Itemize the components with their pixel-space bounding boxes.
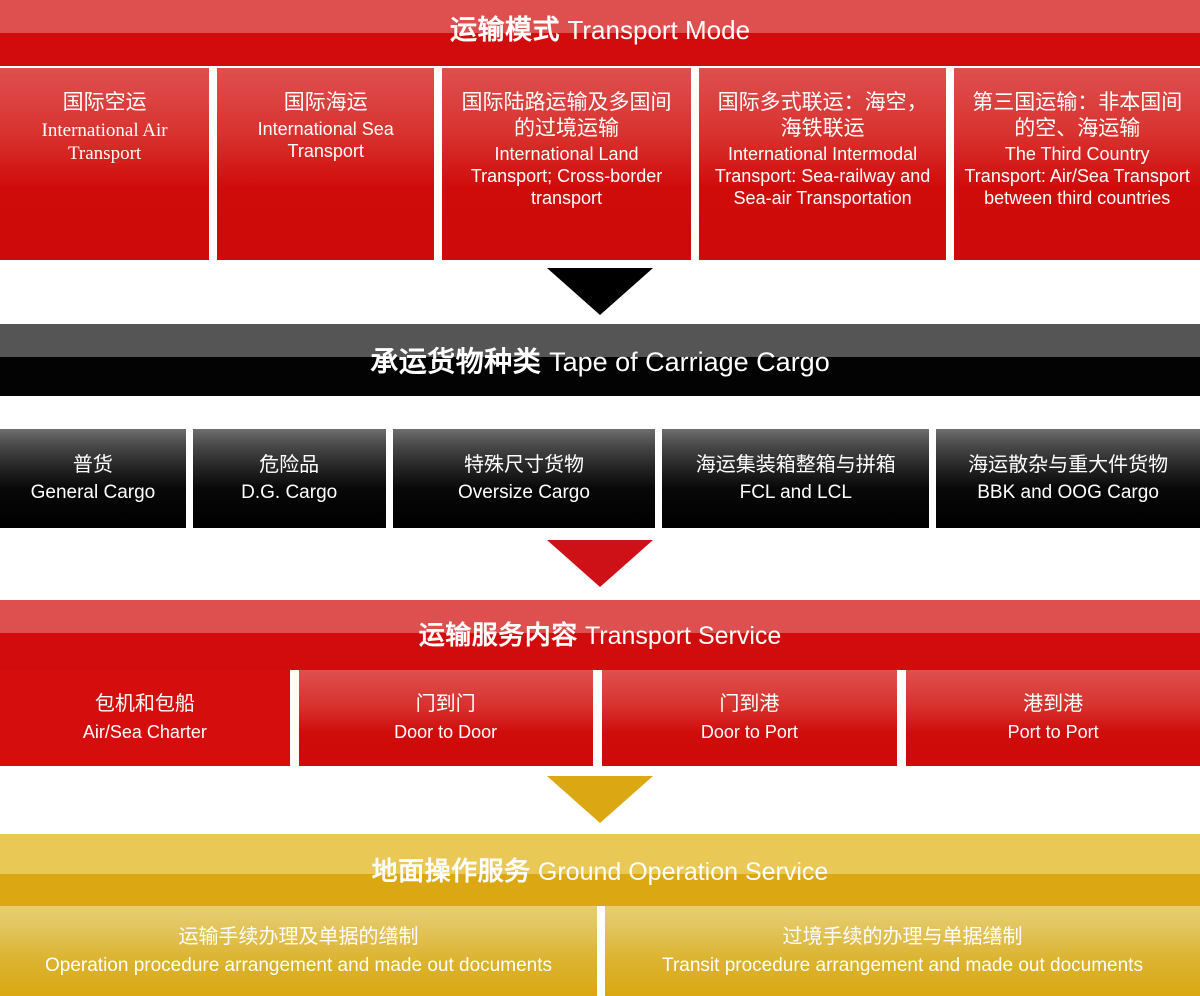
card-title-cn: 港到港 bbox=[1023, 692, 1083, 716]
arrow-service-to-ground-wrap bbox=[0, 766, 1200, 834]
cargo-card-dangerous-goods[interactable]: 危险品 D.G. Cargo bbox=[193, 429, 386, 529]
card-title-cn: 国际陆路运输及多国间的过境运输 bbox=[452, 90, 681, 141]
card-title-en: International Land Transport; Cross-bord… bbox=[452, 144, 681, 210]
ground-card-operation-procedure[interactable]: 运输手续办理及单据的缮制 Operation procedure arrange… bbox=[0, 906, 597, 996]
card-title-en: Air/Sea Charter bbox=[83, 722, 207, 744]
card-title-cn: 第三国运输：非本国间的空、海运输 bbox=[964, 90, 1190, 141]
card-title-cn: 国际海运 bbox=[284, 90, 368, 116]
card-title-en: Port to Port bbox=[1008, 722, 1099, 744]
arrow-down-icon bbox=[547, 268, 653, 315]
ground-operation-row: 运输手续办理及单据的缮制 Operation procedure arrange… bbox=[0, 906, 1200, 996]
service-card-air-sea-charter[interactable]: 包机和包船 Air/Sea Charter bbox=[0, 670, 290, 766]
section-title-en: Tape of Carriage Cargo bbox=[549, 347, 830, 377]
card-title-en: BBK and OOG Cargo bbox=[977, 481, 1159, 504]
section-title-en: Transport Service bbox=[585, 622, 781, 650]
section-header-carriage-cargo: 承运货物种类 Tape of Carriage Cargo bbox=[0, 324, 1200, 392]
card-title-cn: 包机和包船 bbox=[95, 692, 195, 716]
card-title-cn: 运输手续办理及单据的缮制 bbox=[179, 925, 419, 949]
card-title-cn: 过境手续的办理与单据缮制 bbox=[783, 925, 1023, 949]
card-title-en: Door to Door bbox=[394, 722, 497, 744]
section-header-ground-operation: 地面操作服务 Ground Operation Service bbox=[0, 834, 1200, 902]
section-title-transport-service: 运输服务内容 Transport Service bbox=[419, 618, 782, 649]
arrow-mode-to-cargo-wrap bbox=[0, 260, 1200, 324]
section-title-carriage-cargo: 承运货物种类 Tape of Carriage Cargo bbox=[370, 340, 829, 376]
card-title-en: Transit procedure arrangement and made o… bbox=[662, 954, 1143, 977]
card-title-cn: 门到门 bbox=[416, 692, 476, 716]
service-card-port-to-port[interactable]: 港到港 Port to Port bbox=[906, 670, 1200, 766]
card-title-cn: 国际多式联运：海空，海铁联运 bbox=[709, 90, 937, 141]
card-title-en: Oversize Cargo bbox=[458, 481, 590, 504]
cargo-card-fcl-lcl[interactable]: 海运集装箱整箱与拼箱 FCL and LCL bbox=[662, 429, 929, 529]
card-title-en: FCL and LCL bbox=[740, 481, 852, 504]
card-title-en: International Air Transport bbox=[10, 119, 199, 165]
card-title-en: D.G. Cargo bbox=[241, 481, 337, 504]
section-title-cn: 承运货物种类 bbox=[370, 346, 541, 377]
mode-card-intermodal[interactable]: 国际多式联运：海空，海铁联运 International Intermodal … bbox=[699, 68, 947, 260]
section-title-en: Ground Operation Service bbox=[538, 858, 828, 886]
card-title-en: International Sea Transport bbox=[227, 119, 424, 163]
mode-card-third-country[interactable]: 第三国运输：非本国间的空、海运输 The Third Country Trans… bbox=[954, 68, 1200, 260]
cargo-card-general[interactable]: 普货 General Cargo bbox=[0, 429, 186, 529]
transport-service-row: 包机和包船 Air/Sea Charter 门到门 Door to Door 门… bbox=[0, 670, 1200, 766]
service-card-door-to-port[interactable]: 门到港 Door to Port bbox=[602, 670, 898, 766]
arrow-cargo-to-service-wrap bbox=[0, 528, 1200, 600]
arrow-down-icon bbox=[547, 540, 653, 587]
card-title-en: General Cargo bbox=[31, 481, 156, 504]
card-title-cn: 海运集装箱整箱与拼箱 bbox=[696, 453, 896, 477]
transport-flow-diagram: 运输模式 Transport Mode 国际空运 International A… bbox=[0, 0, 1200, 996]
service-card-door-to-door[interactable]: 门到门 Door to Door bbox=[299, 670, 593, 766]
card-title-cn: 危险品 bbox=[259, 453, 319, 477]
card-title-en: International Intermodal Transport: Sea-… bbox=[709, 144, 937, 210]
card-title-en: Door to Port bbox=[701, 722, 798, 744]
card-title-en: Operation procedure arrangement and made… bbox=[45, 954, 552, 977]
card-title-cn: 普货 bbox=[73, 453, 113, 477]
section-title-cn: 运输模式 bbox=[450, 15, 560, 45]
mode-card-international-sea[interactable]: 国际海运 International Sea Transport bbox=[217, 68, 434, 260]
section-header-transport-mode: 运输模式 Transport Mode bbox=[0, 0, 1200, 62]
card-title-cn: 特殊尺寸货物 bbox=[464, 453, 584, 477]
section-title-transport-mode: 运输模式 Transport Mode bbox=[450, 17, 750, 46]
mode-card-international-air[interactable]: 国际空运 International Air Transport bbox=[0, 68, 209, 260]
arrow-down-icon bbox=[547, 776, 653, 823]
section-title-cn: 地面操作服务 bbox=[372, 856, 531, 886]
card-title-cn: 国际空运 bbox=[63, 90, 147, 116]
mode-card-international-land[interactable]: 国际陆路运输及多国间的过境运输 International Land Trans… bbox=[442, 68, 691, 260]
card-title-en: The Third Country Transport: Air/Sea Tra… bbox=[964, 144, 1190, 210]
card-title-cn: 门到港 bbox=[719, 692, 779, 716]
ground-card-transit-procedure[interactable]: 过境手续的办理与单据缮制 Transit procedure arrangeme… bbox=[605, 906, 1200, 996]
card-title-cn: 海运散杂与重大件货物 bbox=[968, 453, 1168, 477]
section-title-en: Transport Mode bbox=[567, 15, 750, 45]
cargo-card-oversize[interactable]: 特殊尺寸货物 Oversize Cargo bbox=[393, 429, 656, 529]
cargo-card-bbk-oog[interactable]: 海运散杂与重大件货物 BBK and OOG Cargo bbox=[936, 429, 1200, 529]
carriage-cargo-row: 普货 General Cargo 危险品 D.G. Cargo 特殊尺寸货物 O… bbox=[0, 429, 1200, 529]
section-title-cn: 运输服务内容 bbox=[419, 620, 578, 650]
section-header-transport-service: 运输服务内容 Transport Service bbox=[0, 600, 1200, 666]
section-title-ground-operation: 地面操作服务 Ground Operation Service bbox=[372, 852, 829, 885]
transport-mode-row: 国际空运 International Air Transport 国际海运 In… bbox=[0, 68, 1200, 260]
